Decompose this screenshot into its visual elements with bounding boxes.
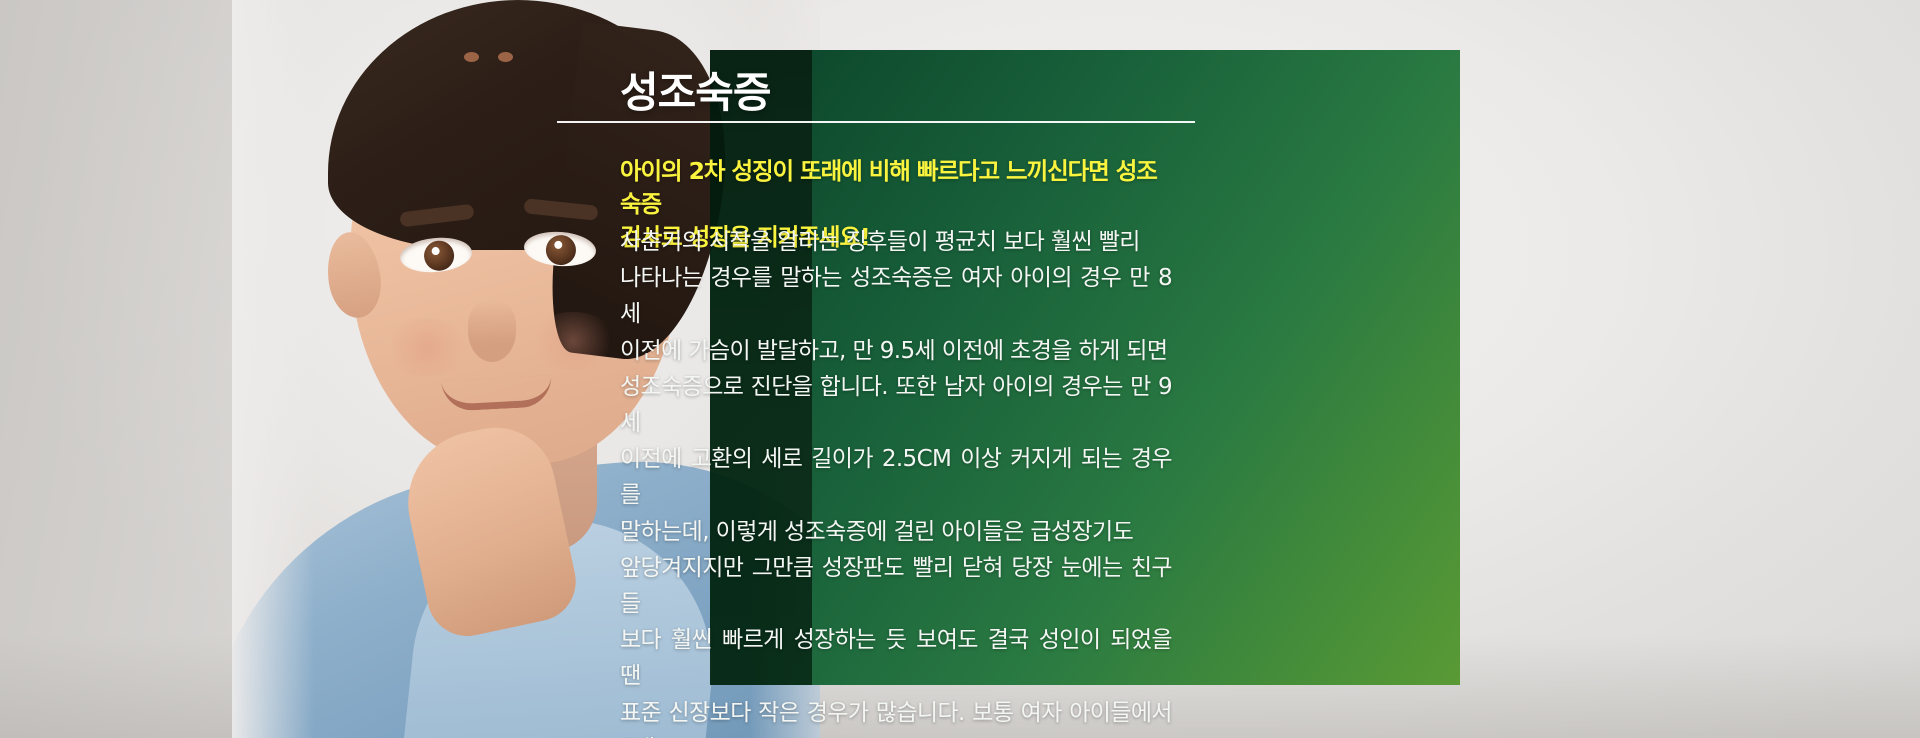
body-line: 앞당겨지지만 그만큼 성장판도 빨리 닫혀 당장 눈에는 친구들 [620,550,1172,622]
body-line: 보다 훨씬 빠르게 성장하는 듯 보여도 결국 성인이 되었을 땐 [620,622,1172,694]
body-line: 이전에 고환의 세로 길이가 2.5CM 이상 커지게 되는 경우를 [620,441,1172,513]
body-line: 말하는데, 이렇게 성조숙증에 걸린 아이들은 급성장기도 [620,514,1172,550]
page-title: 성조숙증 [620,59,1260,120]
body-line: 성조숙증으로 진단을 합니다. 또한 남자 아이의 경우는 만 9세 [620,369,1172,441]
body-line: 나타나는 경우를 말하는 성조숙증은 여자 아이의 경우 만 8세 [620,260,1172,332]
body-line: 사춘기의 시작을 알리는 징후들이 평균치 보다 훨씬 빨리 [620,224,1172,260]
title-divider [557,121,1195,123]
body-line: 표준 신장보다 작은 경우가 많습니다. 보통 여자 아이들에서 5배 [620,695,1172,738]
body-text: 사춘기의 시작을 알리는 징후들이 평균치 보다 훨씬 빨리 나타나는 경우를 … [620,224,1172,738]
body-line: 이전에 가슴이 발달하고, 만 9.5세 이전에 초경을 하게 되면 [620,333,1172,369]
panel-content: 성조숙증 아이의 2차 성징이 또래에 비해 빠르다고 느끼신다면 성조숙증 검… [762,50,1460,685]
banner-root: 성조숙증 아이의 2차 성징이 또래에 비해 빠르다고 느끼신다면 성조숙증 검… [0,0,1920,738]
subtitle-line: 아이의 2차 성징이 또래에 비해 빠르다고 느끼신다면 성조숙증 [620,155,1172,221]
